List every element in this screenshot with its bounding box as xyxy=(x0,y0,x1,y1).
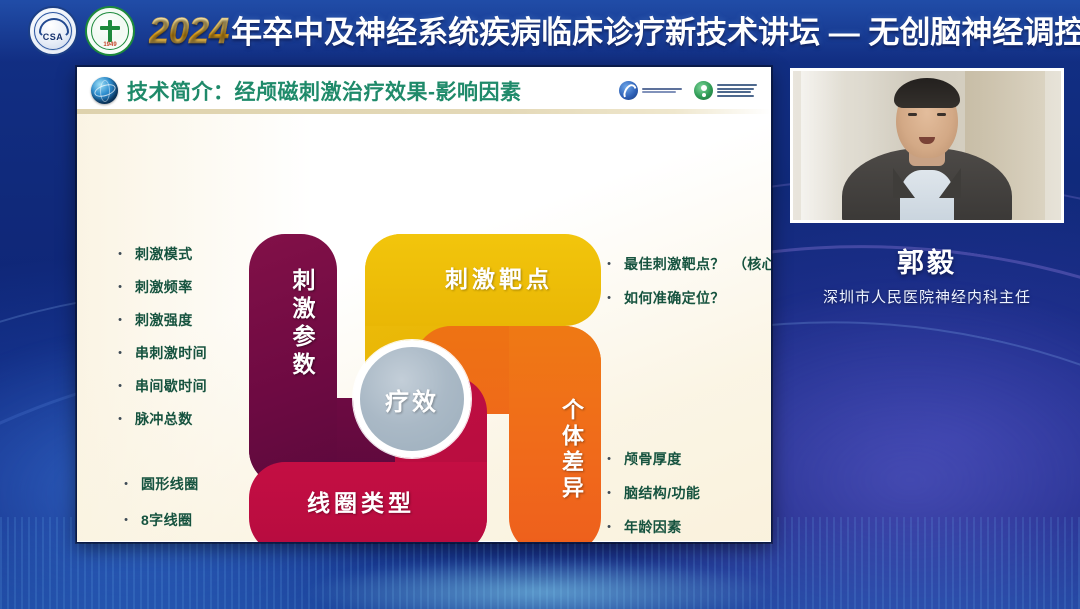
diagram-arm-label-target: 刺激靶点 xyxy=(445,260,553,294)
list-item-label: 年龄因素 xyxy=(624,517,682,537)
list-item-label: 脑结构/功能 xyxy=(624,483,700,503)
video-wall-panel xyxy=(801,71,844,220)
speaker-jacket-lapel xyxy=(893,168,915,198)
list-item-label: 串刺激时间 xyxy=(135,343,207,363)
speaker-role: 深圳市人民医院神经内科主任 xyxy=(790,286,1064,307)
bullet-icon: • xyxy=(115,414,125,425)
globe-icon xyxy=(91,77,118,104)
speaker-eye xyxy=(908,113,917,116)
diagram-hub-label: 疗效 xyxy=(385,382,439,417)
list-item-label: 脉冲总数 xyxy=(135,409,193,429)
diagram-center-hub: 疗效 xyxy=(353,340,471,458)
csa-association-logo-icon: CSA xyxy=(28,6,78,56)
list-item: • 年龄因素 xyxy=(604,517,700,537)
list-item-label: 颅骨厚度 xyxy=(624,449,682,469)
list-item-label: 8字线圈 xyxy=(141,510,192,530)
list-item: • 刺激模式 xyxy=(115,244,207,264)
bullet-icon: • xyxy=(604,454,614,465)
list-item: • 脉冲总数 xyxy=(115,409,207,429)
bullet-icon: • xyxy=(121,515,131,526)
lab-logo xyxy=(619,81,682,100)
slide-header: 技术简介：经颅磁刺激治疗效果-影响因素 xyxy=(77,67,771,114)
bullet-icon: • xyxy=(115,249,125,260)
list-item: • 脑结构/功能 xyxy=(604,483,700,503)
bullet-icon: • xyxy=(604,293,614,304)
list-item-label: 串间歇时间 xyxy=(135,376,207,396)
list-item: • 8字线圈 xyxy=(121,510,199,530)
bullet-icon: • xyxy=(115,348,125,359)
slide-org-logos xyxy=(619,81,761,100)
slide-body: • 刺激模式 • 刺激频率 • 刺激强度 • 串刺激时间 • 串间歇时间 xyxy=(77,114,771,541)
list-item: • 刺激频率 xyxy=(115,277,207,297)
list-item: • 串刺激时间 xyxy=(115,343,207,363)
speaker-jacket-lapel xyxy=(939,168,961,198)
event-title: 2024 年卒中及神经系统疾病临床诊疗新技术讲坛 — 无创脑神经调控 xyxy=(149,13,1080,49)
slide-title: 技术简介：经颅磁刺激治疗效果-影响因素 xyxy=(127,76,522,106)
event-title-text: 年卒中及神经系统疾病临床诊疗新技术讲坛 — 无创脑神经调控 xyxy=(231,17,1080,48)
background-city-glow xyxy=(302,557,777,609)
speaker-name: 郭毅 xyxy=(790,241,1064,280)
presentation-slide: 技术简介：经颅磁刺激治疗效果-影响因素 • 刺激模式 xyxy=(76,66,772,543)
list-item-emphasis: （核心） xyxy=(733,254,772,274)
list-item: • 刺激强度 xyxy=(115,310,207,330)
green-hospital-icon xyxy=(694,81,713,100)
list-item: • 颅骨厚度 xyxy=(604,449,700,469)
bullet-icon: • xyxy=(604,488,614,499)
lab-logo-text xyxy=(642,88,682,94)
hospital-logo-text xyxy=(717,84,757,97)
bullet-icon: • xyxy=(604,522,614,533)
list-stimulation-parameters: • 刺激模式 • 刺激频率 • 刺激强度 • 串刺激时间 • 串间歇时间 xyxy=(115,244,207,442)
list-item-label: 刺激频率 xyxy=(135,277,193,297)
bullet-icon: • xyxy=(115,381,125,392)
event-header-banner: CSA 1949 2024 年卒中及神经系统疾病临床诊疗新技术讲坛 — 无创脑神… xyxy=(0,0,1080,62)
event-title-year: 2024 xyxy=(149,13,229,49)
list-item-label: 刺激强度 xyxy=(135,310,193,330)
list-item-label: 圆形线圈 xyxy=(141,474,199,494)
speaker-panel: 郭毅 深圳市人民医院神经内科主任 xyxy=(790,68,1064,307)
list-item-label: 如何准确定位？ xyxy=(624,288,725,308)
bullet-icon: • xyxy=(604,259,614,270)
blue-leaf-icon xyxy=(619,81,638,100)
list-item-label: 刺激模式 xyxy=(135,244,193,264)
list-stimulation-target: • 最佳刺激靶点？ （核心） • 如何准确定位？ xyxy=(604,254,772,322)
speaker-video-feed[interactable] xyxy=(790,68,1064,223)
diagram-arm-label-individ: 个体差异 xyxy=(537,398,587,502)
diagram-arm-label-params: 刺激参数 xyxy=(267,268,319,380)
diagram-arm-label-coil: 线圈类型 xyxy=(307,484,415,518)
header-logo-group: CSA 1949 xyxy=(28,6,135,56)
speaker-eye xyxy=(937,113,946,116)
list-item: • 如何准确定位？ xyxy=(604,288,772,308)
list-item: • 圆形线圈 xyxy=(121,474,199,494)
list-coil-types: • 圆形线圈 • 8字线圈 • 锥形线圈 xyxy=(121,474,199,543)
pinwheel-diagram: 刺激参数 刺激靶点 个体差异 线圈类型 疗效 xyxy=(249,234,601,543)
list-individual-differences: • 颅骨厚度 • 脑结构/功能 • 年龄因素 • 药物因素 xyxy=(604,449,700,543)
bullet-icon: • xyxy=(115,315,125,326)
hospital-logo xyxy=(694,81,757,100)
list-item-label: 最佳刺激靶点？ xyxy=(624,254,725,274)
medical-cross-icon xyxy=(100,20,120,42)
bullet-icon: • xyxy=(115,282,125,293)
list-item: • 最佳刺激靶点？ （核心） xyxy=(604,254,772,274)
screen: CSA 1949 2024 年卒中及神经系统疾病临床诊疗新技术讲坛 — 无创脑神… xyxy=(0,0,1080,609)
medical-association-logo-icon: 1949 xyxy=(85,6,135,56)
bullet-icon: • xyxy=(121,479,131,490)
list-item: • 串间歇时间 xyxy=(115,376,207,396)
csa-logo-label: CSA xyxy=(43,32,64,42)
medical-logo-year: 1949 xyxy=(87,42,133,48)
